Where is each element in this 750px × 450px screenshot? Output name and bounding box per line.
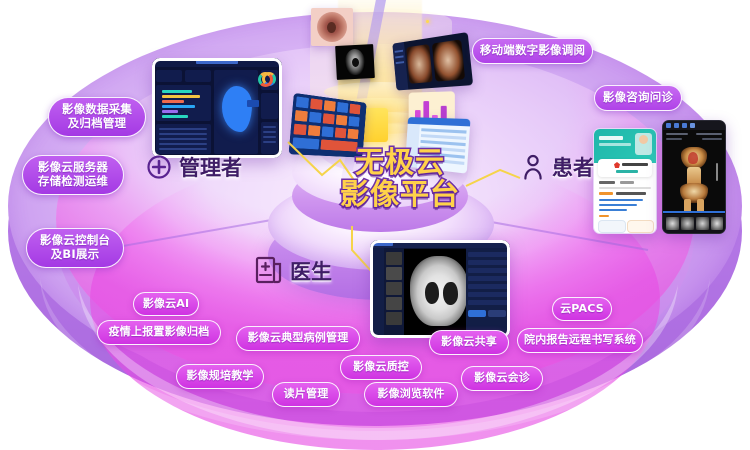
title-line-1: 无极云 bbox=[355, 145, 445, 179]
role-doctor-label: 医生 bbox=[290, 256, 332, 286]
title-line-2: 影像平台 bbox=[320, 178, 480, 210]
pill-doctor-3[interactable]: 影像规培教学 bbox=[176, 364, 264, 389]
plus-circle-icon bbox=[146, 154, 172, 180]
ultrasound-image bbox=[335, 44, 375, 80]
patient-app-phone bbox=[593, 128, 657, 234]
medical-record-icon bbox=[255, 256, 283, 286]
pill-doctor-11[interactable]: 院内报告远程书写系统 bbox=[517, 328, 643, 353]
pill-admin-1[interactable]: 影像数据采集 及归档管理 bbox=[48, 97, 146, 137]
pill-admin-2[interactable]: 影像云服务器 存储检测运维 bbox=[22, 155, 124, 195]
pill-doctor-4[interactable]: 读片管理 bbox=[272, 382, 340, 407]
pill-doctor-6[interactable]: 影像云质控 bbox=[340, 355, 422, 380]
pill-patient-1[interactable]: 移动端数字影像调阅 bbox=[472, 38, 593, 64]
person-icon bbox=[521, 154, 545, 180]
role-patient[interactable]: 患者 bbox=[521, 152, 594, 182]
role-admin-label: 管理者 bbox=[179, 152, 242, 182]
pill-doctor-5[interactable]: 影像云典型病例管理 bbox=[236, 326, 360, 351]
pacs-curved-screen bbox=[392, 32, 473, 91]
infographic-canvas: 无极云 影像平台 管理者 患者 医生 影像数据采集 及归档管理 影像云服务器 存… bbox=[0, 0, 750, 450]
dashboard-gauge-2 bbox=[258, 72, 273, 87]
pill-doctor-8[interactable]: 影像云共享 bbox=[429, 330, 509, 355]
pill-doctor-7[interactable]: 影像浏览软件 bbox=[364, 382, 458, 407]
mobile-3d-phone bbox=[662, 120, 726, 234]
pill-doctor-1[interactable]: 影像云AI bbox=[133, 292, 199, 316]
role-patient-label: 患者 bbox=[552, 152, 594, 182]
pill-doctor-10[interactable]: 云PACS bbox=[552, 297, 612, 321]
ct-viewer-screen bbox=[370, 240, 510, 338]
endoscopy-image bbox=[311, 8, 353, 46]
role-admin[interactable]: 管理者 bbox=[146, 152, 242, 182]
pill-doctor-9[interactable]: 影像云会诊 bbox=[461, 366, 543, 391]
pill-admin-3[interactable]: 影像云控制台 及BI展示 bbox=[26, 228, 124, 268]
pill-doctor-2[interactable]: 疫情上报置影像归档 bbox=[97, 320, 221, 345]
page-title: 无极云 影像平台 bbox=[320, 146, 480, 211]
pill-patient-2[interactable]: 影像咨询问诊 bbox=[594, 85, 682, 111]
role-doctor[interactable]: 医生 bbox=[255, 256, 332, 286]
